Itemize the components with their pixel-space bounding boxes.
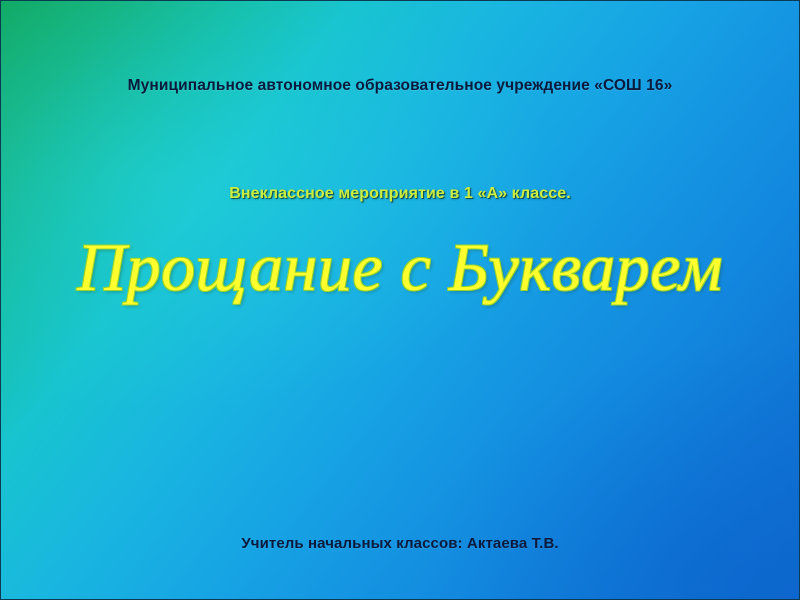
teacher-credit: Учитель начальных классов: Актаева Т.В. <box>1 535 799 552</box>
slide-title: Прощание с Букварем <box>1 233 799 301</box>
organization-name: Муниципальное автономное образовательное… <box>1 77 799 95</box>
presentation-slide: Муниципальное автономное образовательное… <box>0 0 800 600</box>
event-subtitle: Внеклассное мероприятие в 1 «А» классе. <box>1 185 799 203</box>
